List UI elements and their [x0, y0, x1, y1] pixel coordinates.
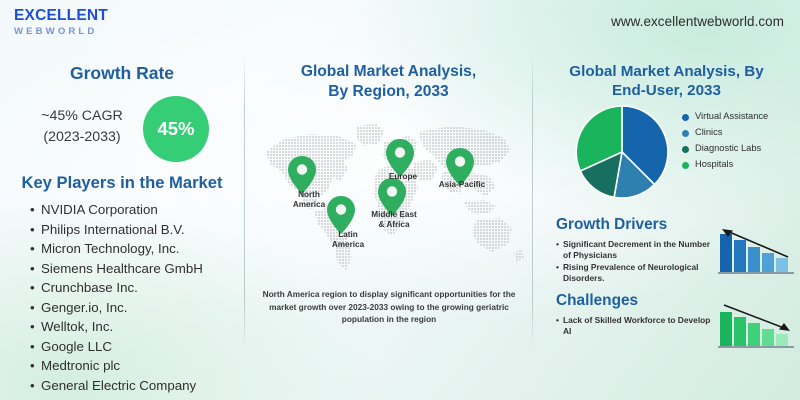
- legend-dot-icon: [682, 162, 689, 169]
- list-item: Google LLC: [30, 337, 244, 357]
- map-label-middle-east-africa: Middle East & Africa: [360, 210, 428, 230]
- list-item: Micron Technology, Inc.: [30, 239, 244, 259]
- legend-label: Clinics: [695, 126, 722, 138]
- region-analysis-title: Global Market Analysis, By Region, 2033: [245, 62, 532, 102]
- bar: [720, 234, 732, 272]
- list-item: Medtronic plc: [30, 356, 244, 376]
- axis-line: [718, 346, 794, 348]
- bar: [734, 317, 746, 346]
- list-item: Siemens Healthcare GmbH: [30, 259, 244, 279]
- bar: [734, 240, 746, 272]
- legend-dot-icon: [682, 146, 689, 153]
- growth-rate-title: Growth Rate: [0, 62, 244, 84]
- list-item: Lack of Skilled Workforce to Develop AI: [556, 315, 714, 336]
- bar: [762, 253, 774, 272]
- brand-logo[interactable]: EXCELLENT WEBWORLD: [14, 8, 108, 36]
- growth-drivers-list: Significant Decrement in the Number of P…: [556, 239, 714, 285]
- bar: [748, 323, 760, 346]
- legend-item-hospitals: Hospitals: [682, 158, 794, 170]
- bar: [762, 329, 774, 346]
- growth-drivers-title: Growth Drivers: [556, 216, 667, 234]
- list-item: Crunchbase Inc.: [30, 278, 244, 298]
- map-label-asia-pacific: Asia-Pacific: [428, 180, 496, 190]
- bar: [748, 247, 760, 272]
- list-item: Significant Decrement in the Number of P…: [556, 239, 714, 260]
- legend-label: Virtual Assistance: [695, 110, 768, 122]
- legend-dot-icon: [682, 114, 689, 121]
- legend-label: Diagnostic Labs: [695, 142, 761, 154]
- end-user-analysis-title: Global Market Analysis, By End-User, 203…: [533, 62, 800, 101]
- growth-rate-figure: ~45% CAGR (2023-2033) 45%: [0, 96, 244, 166]
- infographic-canvas: EXCELLENT WEBWORLD www.excellentwebworld…: [0, 0, 800, 400]
- challenges-bar-chart: [718, 300, 794, 350]
- map-label-north-america: North America: [278, 190, 340, 210]
- map-caption: North America region to display signific…: [254, 288, 524, 326]
- cagr-badge: 45%: [143, 96, 209, 162]
- challenges-title: Challenges: [556, 292, 638, 310]
- list-item: Welltok, Inc.: [30, 317, 244, 337]
- list-item: Genger.io, Inc.: [30, 298, 244, 318]
- website-url[interactable]: www.excellentwebworld.com: [611, 14, 784, 29]
- legend-dot-icon: [682, 130, 689, 137]
- map-pin-north-america: [288, 156, 316, 194]
- map-label-europe: Europe: [376, 172, 430, 182]
- map-label-latin-america: Latin America: [318, 230, 378, 250]
- growth-drivers-bar-chart: [718, 226, 794, 276]
- world-map: North America Latin America Europe Middl…: [252, 106, 526, 278]
- pie-legend: Virtual Assistance Clinics Diagnostic La…: [682, 110, 794, 174]
- legend-item-diagnostic-labs: Diagnostic Labs: [682, 142, 794, 154]
- cagr-text: ~45% CAGR (2023-2033): [22, 106, 142, 147]
- end-user-pie-chart: [574, 104, 670, 200]
- legend-label: Hospitals: [695, 158, 733, 170]
- challenges-list: Lack of Skilled Workforce to Develop AI: [556, 315, 714, 338]
- list-item: Philips International B.V.: [30, 220, 244, 240]
- axis-line: [718, 272, 794, 274]
- bar: [776, 258, 788, 272]
- legend-item-clinics: Clinics: [682, 126, 794, 138]
- list-item: Rising Prevalence of Neurological Disord…: [556, 262, 714, 283]
- legend-item-virtual-assistance: Virtual Assistance: [682, 110, 794, 122]
- key-players-list: NVIDIA Corporation Philips International…: [30, 200, 244, 395]
- logo-secondary-text: WEBWORLD: [14, 27, 108, 37]
- bar: [776, 334, 788, 346]
- key-players-title: Key Players in the Market: [0, 172, 244, 193]
- list-item: General Electric Company: [30, 376, 244, 396]
- list-item: NVIDIA Corporation: [30, 200, 244, 220]
- bar: [720, 312, 732, 346]
- logo-primary-text: EXCELLENT: [14, 8, 108, 24]
- cagr-badge-value: 45%: [157, 118, 194, 140]
